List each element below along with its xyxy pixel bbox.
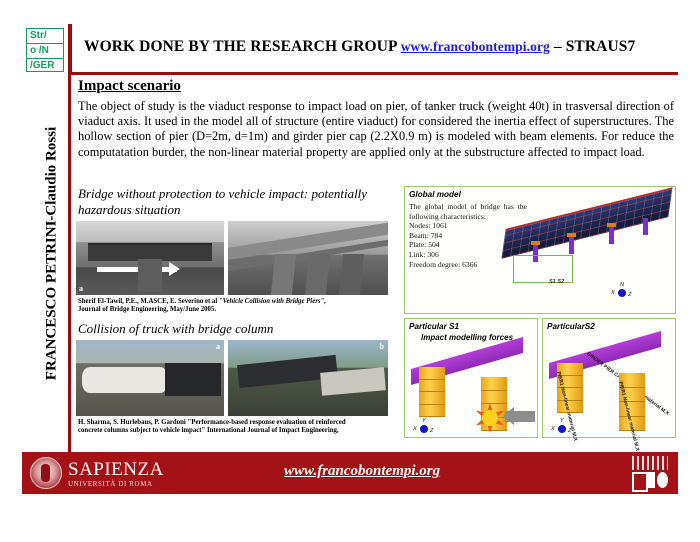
footer-url-link[interactable]: www.francobontempi.org <box>284 463 440 480</box>
axis-z-label: Z <box>430 428 433 434</box>
impact-force-arrow-icon <box>505 411 535 422</box>
logo-text-2: o /N <box>30 45 49 56</box>
axis-origin-dot-icon <box>618 289 626 297</box>
s1-pier-left-seg <box>419 392 445 405</box>
fbo-logo-stripes <box>632 456 668 470</box>
citation-1: Sherif El-Tawil, P.E., M.ASCE, E. Severi… <box>78 298 390 315</box>
logo-row-2: o /N <box>27 44 63 59</box>
sapienza-seal-icon <box>30 457 62 489</box>
citation-2-line-2: concrete columns subject to vehicle impa… <box>78 427 339 434</box>
photo-row-1: a <box>76 221 396 295</box>
university-subtitle: UNIVERSITÀ DI ROMA <box>68 480 153 488</box>
page-title-prefix: WORK DONE BY THE RESEARCH GROUP <box>84 38 397 55</box>
citation-1-source: Journal of Bridge Engineering, May/June … <box>78 306 216 313</box>
photo-underpass-label: a <box>79 284 83 293</box>
axis-x-label: X <box>611 290 615 296</box>
slide-body: Impact scenario The object of study is t… <box>74 74 678 468</box>
left-column: Bridge without protection to vehicle imp… <box>76 186 396 436</box>
axis-z-label: Z <box>568 428 571 434</box>
axis-z-label: Z <box>628 292 631 298</box>
bridge-pier-cap-1 <box>531 241 540 245</box>
panel-global-model: Global model The global model of bridge … <box>404 186 676 314</box>
straus-logo: Str/ o /N /GER <box>26 28 64 72</box>
fbo-logo-o <box>657 472 668 488</box>
photo-underpass: a <box>76 221 224 295</box>
particular-panels-row: Particular S1 Impact modelling forces <box>404 318 676 438</box>
s1-pier-left-seg <box>419 367 445 380</box>
header-divider <box>68 24 72 72</box>
logo-text-3: /GER <box>30 60 54 71</box>
panel-particular-s1: Particular S1 Impact modelling forces <box>404 318 538 438</box>
left-heading-2: Collision of truck with bridge column <box>78 321 396 337</box>
axis-triad-s2: X Y Z <box>551 419 577 435</box>
section-title: Impact scenario <box>78 78 181 95</box>
selection-label: S1 S2 <box>549 279 564 285</box>
logo-text-1: Str/ <box>30 30 47 41</box>
left-heading-1: Bridge without protection to vehicle imp… <box>78 186 396 217</box>
axis-x-label: X <box>413 426 417 432</box>
bridge-pier-3 <box>609 227 614 244</box>
header-url-link[interactable]: www.francobontempi.org <box>401 39 550 54</box>
slide: Str/ o /N /GER WORK DONE BY THE RESEARCH… <box>0 0 700 542</box>
citation-1-authors: Sherif El-Tawil, P.E., M.ASCE, E. Severi… <box>78 298 219 305</box>
axis-triad-global: X N Z <box>611 283 637 299</box>
impact-direction-arrow-icon <box>97 267 177 272</box>
axis-x-label: X <box>551 426 555 432</box>
citation-2-line-1: H. Sharma, S. Hurlebaus, P. Gardoni "Per… <box>78 419 346 426</box>
axis-origin-dot-icon <box>420 425 428 433</box>
author-rail: FRANCESCO PETRINI-Claudio Rossi <box>22 77 68 467</box>
axis-triad-s1: X Y Z <box>413 419 439 435</box>
s1-pier-left-seg <box>419 405 445 418</box>
fbo-logo-icon <box>632 456 668 489</box>
s1-pier-right-seg <box>481 391 507 405</box>
axis-y-label: Y <box>422 418 426 424</box>
panel-particular-s2: ParticularS2 GIRDER PIER CAP Non-linear … <box>542 318 676 438</box>
page-title: WORK DONE BY THE RESEARCH GROUP www.fran… <box>84 38 674 56</box>
slide-footer: SAPIENZA UNIVERSITÀ DI ROMA www.francobo… <box>22 452 678 494</box>
logo-row-1: Str/ <box>27 29 63 44</box>
right-column: Global model The global model of bridge … <box>404 186 676 438</box>
section-paragraph: The object of study is the viaduct respo… <box>78 99 674 160</box>
bridge-pier-cap-3 <box>607 223 616 227</box>
body-divider <box>68 74 71 468</box>
particular-s2-title: ParticularS2 <box>547 322 675 331</box>
university-name: SAPIENZA <box>68 459 164 481</box>
axis-y-label: N <box>620 282 624 288</box>
citation-2: H. Sharma, S. Hurlebaus, P. Gardoni "Per… <box>78 419 390 436</box>
bridge-pier-4 <box>643 218 648 235</box>
bridge-3d-model: S1 S2 <box>497 193 673 289</box>
photo-crash-a-label: a <box>216 342 220 351</box>
logo-row-3: /GER <box>27 59 63 73</box>
bridge-pier-cap-2 <box>567 233 576 237</box>
s1-pier-left <box>419 367 445 417</box>
photo-crash-a: a <box>76 340 224 416</box>
photo-row-2: a b <box>76 340 396 416</box>
axis-origin-dot-icon <box>558 425 566 433</box>
fbo-logo-b <box>646 472 655 488</box>
author-names: FRANCESCO PETRINI-Claudio Rossi <box>44 74 61 434</box>
citation-1-title: "Vehicle Collision with Bridge Piers", <box>219 298 326 305</box>
s1-pier-right-seg <box>481 377 507 391</box>
slide-frame: Str/ o /N /GER WORK DONE BY THE RESEARCH… <box>22 22 678 520</box>
photo-interchange <box>228 221 388 295</box>
axis-y-label: Y <box>560 418 564 424</box>
page-title-suffix: – STRAUS7 <box>554 38 635 55</box>
photo-crash-b-label: b <box>380 342 384 351</box>
s1-pier-left-seg <box>419 380 445 393</box>
particular-s1-title: Particular S1 <box>409 322 537 331</box>
photo-crash-b: b <box>228 340 388 416</box>
bridge-pier-2 <box>569 237 574 254</box>
